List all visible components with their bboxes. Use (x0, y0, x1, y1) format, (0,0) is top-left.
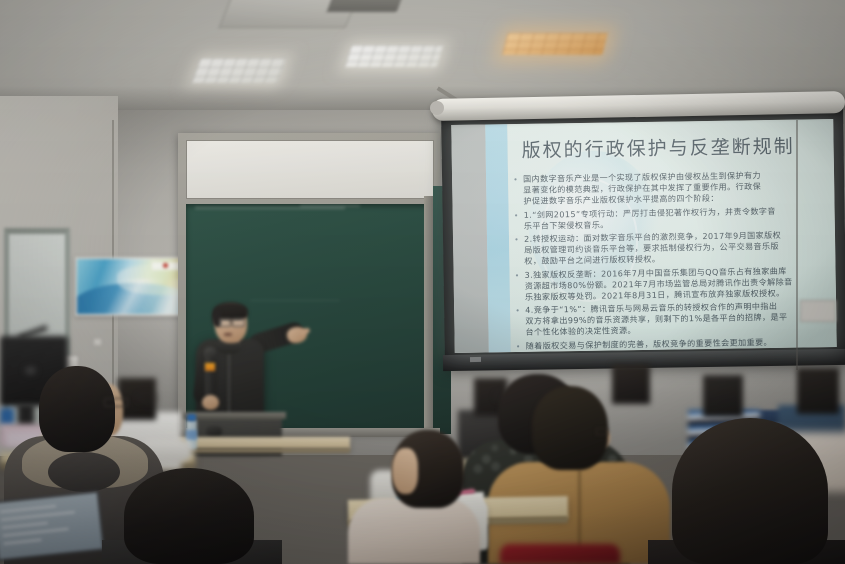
water-bottle-cap (187, 414, 196, 421)
chalk-residue-2 (300, 205, 360, 207)
projected-slide: 版权的行政保护与反垄断规制 •国内数字音乐产业是一个实现了版权保护由侵权丛生到保… (451, 119, 837, 353)
glasses-lens-right (232, 318, 245, 327)
student-khaki-glasses-icon (596, 428, 608, 435)
podium-top (182, 412, 286, 419)
ceiling-light-panel-warm-3 (502, 33, 607, 55)
chalk-residue-1 (195, 207, 345, 209)
speaker-glasses-icon (219, 318, 244, 325)
wall-sign (800, 300, 836, 322)
student-back-head-extra (612, 364, 650, 404)
student-hoodie-head (39, 366, 115, 452)
wall-fixture-2 (93, 338, 102, 346)
whiteboard-panel (186, 140, 434, 199)
laptop-text-line (0, 505, 56, 513)
laptop-text-line (1, 511, 75, 521)
student-long-hair-right-head (672, 418, 828, 564)
speaker-mic-hand (202, 395, 219, 410)
monitor-brand-logo-icon (24, 366, 37, 375)
air-vent-duct (327, 0, 404, 12)
chalk-residue-3 (250, 300, 340, 301)
student-hoodie-glasses-icon (104, 398, 128, 407)
wall-poster-seascape (75, 257, 191, 316)
student-beige-coat-face (392, 448, 418, 494)
desk-object-dark (206, 426, 222, 437)
microphone-head (204, 347, 216, 357)
ceiling-light-panel-2 (345, 45, 444, 67)
microphone-body (205, 352, 215, 398)
screen-brand-mark (470, 357, 481, 362)
student-blue-shirt-head (797, 368, 839, 414)
student-striped-shirt-head (703, 375, 743, 417)
student-white-shirt-glasses-icon (138, 394, 157, 402)
red-bag (500, 544, 620, 564)
classroom-photo: 版权的行政保护与反垄断规制 •国内数字音乐产业是一个实现了版权保护由侵权丛生到保… (0, 0, 845, 564)
student-hoodie-hood-inner (48, 452, 120, 492)
poster-logo-dot-icon (163, 263, 168, 268)
wall-cable (796, 120, 798, 370)
roller-end-cap (430, 101, 444, 115)
laptop-text-line (3, 528, 69, 537)
laptop-text-line (2, 522, 48, 529)
glasses-bridge (229, 320, 233, 321)
speaker-mouth (224, 333, 232, 336)
student-long-hair-left-head (124, 468, 254, 564)
chalkboard-divider (424, 196, 433, 430)
ceiling-light-panel-1 (191, 58, 286, 83)
student-beige-coat-torso (348, 498, 480, 564)
water-bottle-label (186, 430, 197, 440)
laptop-text-line (4, 539, 42, 545)
projector-glow (451, 119, 837, 353)
microphone-band (205, 363, 215, 371)
laptop-screen (0, 491, 105, 562)
